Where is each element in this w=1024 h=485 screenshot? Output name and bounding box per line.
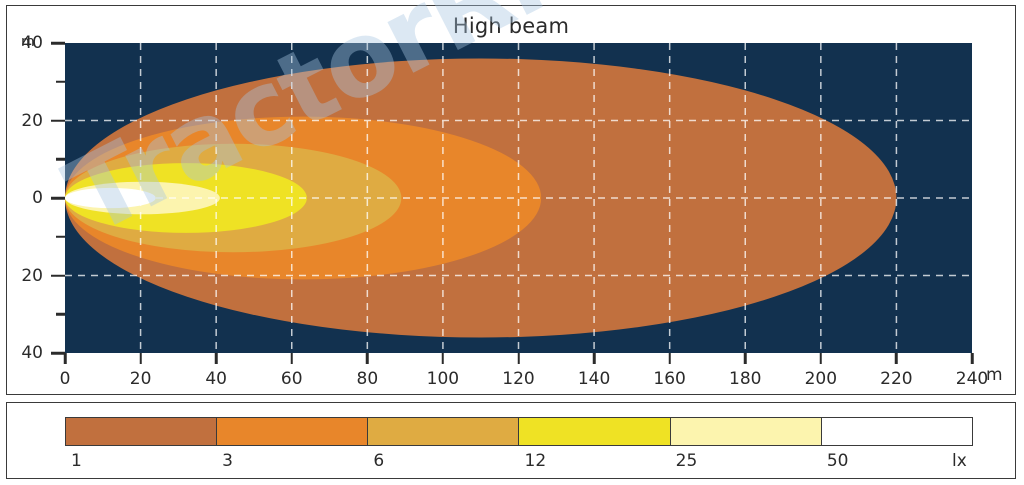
x-tick-label: 180	[729, 369, 761, 389]
x-tick-label: 0	[60, 369, 71, 389]
x-tick-label: 60	[281, 369, 303, 389]
x-tick-label: 80	[357, 369, 379, 389]
x-tick-label: 120	[502, 369, 534, 389]
y-minor-tick-mark	[56, 158, 65, 161]
beam-pattern-diagram: High beam m m 402002040 0204060801001201…	[0, 0, 1024, 485]
x-axis: 020406080100120140160180200220240	[7, 353, 1017, 396]
legend-unit-label: lx	[952, 451, 967, 471]
legend-label-6lx: 6	[373, 451, 384, 471]
x-tick-mark	[64, 353, 67, 364]
y-axis: 402002040	[7, 6, 65, 396]
x-tick-mark	[668, 353, 671, 364]
y-tick-label: 40	[9, 33, 43, 53]
x-tick-mark	[744, 353, 747, 364]
x-tick-label: 240	[956, 369, 988, 389]
legend-swatch-3lx	[216, 417, 369, 446]
x-tick-mark	[517, 353, 520, 364]
legend-label-3lx: 3	[222, 451, 233, 471]
x-tick-label: 40	[205, 369, 227, 389]
x-tick-label: 220	[880, 369, 912, 389]
legend-label-50lx: 50	[827, 451, 849, 471]
plot-area	[65, 43, 972, 353]
x-tick-mark	[139, 353, 142, 364]
x-tick-label: 140	[578, 369, 610, 389]
y-tick-label: 20	[9, 266, 43, 286]
chart-panel: High beam m m 402002040 0204060801001201…	[6, 5, 1016, 395]
legend-swatch-6lx	[367, 417, 520, 446]
x-tick-mark	[215, 353, 218, 364]
x-tick-mark	[291, 353, 294, 364]
x-tick-label: 200	[805, 369, 837, 389]
legend-label-25lx: 25	[676, 451, 698, 471]
x-tick-mark	[442, 353, 445, 364]
legend-swatch-50lx	[821, 417, 974, 446]
y-tick-label: 0	[9, 188, 43, 208]
x-tick-mark	[366, 353, 369, 364]
legend-swatch-1lx	[65, 417, 218, 446]
legend-color-bar	[65, 417, 973, 446]
y-tick-mark	[51, 197, 65, 200]
x-tick-mark	[820, 353, 823, 364]
y-minor-tick-mark	[56, 81, 65, 84]
y-tick-mark	[51, 42, 65, 45]
legend-panel: 136122550lx	[6, 402, 1016, 479]
y-minor-tick-mark	[56, 313, 65, 316]
y-minor-tick-mark	[56, 236, 65, 239]
x-tick-mark	[593, 353, 596, 364]
y-tick-mark	[51, 274, 65, 277]
x-tick-label: 160	[653, 369, 685, 389]
legend-label-12lx: 12	[525, 451, 547, 471]
y-tick-mark	[51, 119, 65, 122]
x-tick-label: 100	[427, 369, 459, 389]
beam-contour-plot	[65, 43, 972, 353]
x-tick-mark	[895, 353, 898, 364]
y-tick-label: 20	[9, 111, 43, 131]
x-tick-mark	[971, 353, 974, 364]
legend-swatch-25lx	[670, 417, 823, 446]
legend-swatch-12lx	[518, 417, 671, 446]
legend-label-1lx: 1	[71, 451, 82, 471]
page-title: High beam	[7, 14, 1015, 38]
x-tick-label: 20	[130, 369, 152, 389]
